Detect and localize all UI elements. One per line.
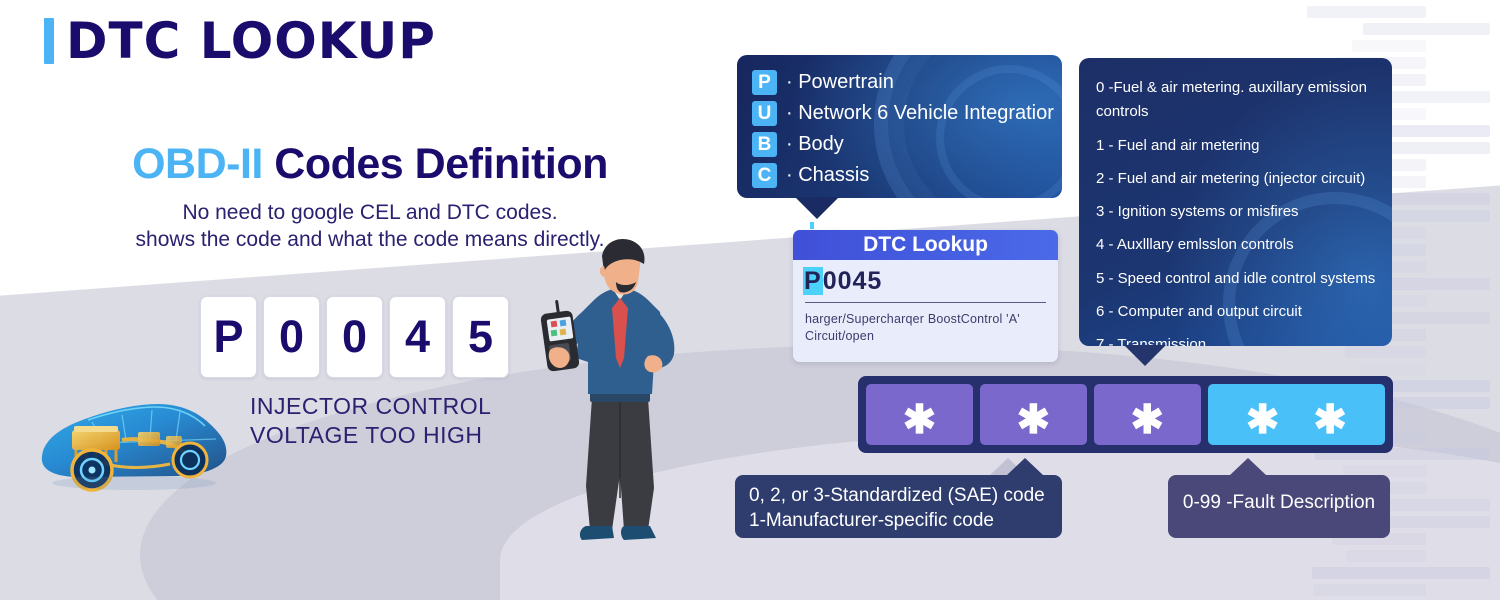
code-position-cell[interactable]: ✱ — [1094, 384, 1201, 445]
logo-accent-bar — [44, 18, 54, 64]
category-label: · Body — [786, 133, 844, 156]
subsystem-list-item: 4 - Auxlllary emlsslon controls — [1096, 233, 1376, 257]
category-letter-badge: P — [752, 70, 777, 95]
category-letter-badge: B — [752, 132, 777, 157]
dtc-code-card: 0 — [263, 296, 320, 378]
callout-fault-description: 0-99 -Fault Description — [1168, 475, 1390, 538]
dtc-code-card: P — [200, 296, 257, 378]
subsystem-list-item: 3 - Ignition systems or misfires — [1096, 200, 1376, 224]
subsystem-list-item: 0 -Fuel & air metering. auxillary emissi… — [1096, 76, 1376, 125]
page-title-accent: OBD-II — [132, 140, 263, 188]
fault-description-line2: VOLTAGE TOO HIGH — [250, 421, 491, 450]
page-title-rest: Codes Definition — [263, 140, 608, 188]
dtc-lookup-card[interactable]: DTC Lookup P0045 harger/Supercharqer Boo… — [793, 230, 1058, 362]
code-position-row: ✱✱✱✱✱ — [858, 376, 1393, 453]
infographic-canvas: DTC LOOKUP OBD-II Codes Definition No ne… — [0, 0, 1500, 600]
asterisk-icon: ✱ — [1246, 408, 1280, 432]
category-label: · Network 6 Vehicle Integratior — [786, 102, 1054, 125]
callout-sae-pointer — [1007, 458, 1043, 475]
subsystem-list-item: 6 - Computer and output circuit — [1096, 300, 1376, 324]
category-row: P· Powertrain — [752, 67, 1062, 98]
dtc-lookup-code-rest: 0045 — [823, 267, 883, 295]
asterisk-icon: ✱ — [1313, 408, 1347, 432]
asterisk-icon: ✱ — [903, 408, 937, 432]
callout-fault-pointer — [1230, 458, 1266, 475]
subsystem-list-item: 2 - Fuel and air metering (injector circ… — [1096, 167, 1376, 191]
code-position-cell[interactable]: ✱ — [980, 384, 1087, 445]
asterisk-icon: ✱ — [1017, 408, 1051, 432]
code-position-cell[interactable]: ✱ — [866, 384, 973, 445]
code-category-panel: P· PowertrainU· Network 6 Vehicle Integr… — [737, 55, 1062, 198]
callout-sae-line1: 0, 2, or 3-Standardized (SAE) code — [749, 483, 1062, 508]
fault-description: INJECTOR CONTROL VOLTAGE TOO HIGH — [250, 392, 491, 451]
car-xray-illustration — [30, 382, 240, 497]
page-subtitle-line1: No need to google CEL and DTC codes. — [0, 200, 740, 227]
dtc-code-card: 0 — [326, 296, 383, 378]
fault-description-line1: INJECTOR CONTROL — [250, 392, 491, 421]
category-label: · Chassis — [786, 164, 869, 187]
dtc-code-card: 4 — [389, 296, 446, 378]
category-row: C· Chassis — [752, 160, 1062, 191]
category-letter-badge: C — [752, 163, 777, 188]
subsystem-list-item: 5 - Speed control and idle control syste… — [1096, 267, 1376, 291]
dtc-code-cards: P0045 — [200, 296, 509, 378]
dtc-lookup-code-prefix: P — [803, 267, 823, 295]
code-position-cell[interactable]: ✱✱ — [1208, 384, 1385, 445]
list-panel-tail — [1124, 345, 1166, 366]
page-title: OBD-II Codes Definition — [0, 140, 740, 189]
callout-sae: 0, 2, or 3-Standardized (SAE) code 1-Man… — [735, 475, 1062, 538]
category-row: B· Body — [752, 129, 1062, 160]
dtc-code-card: 5 — [452, 296, 509, 378]
logo: DTC LOOKUP — [44, 16, 436, 66]
category-panel-tail — [795, 197, 839, 219]
subsystem-list-item: 1 - Fuel and air metering — [1096, 134, 1376, 158]
dtc-lookup-description-line1: harger/Supercharqer BoostControl 'A' — [805, 311, 1046, 328]
category-label: · Powertrain — [786, 71, 894, 94]
technician-illustration — [520, 238, 720, 550]
dtc-lookup-description-line2: Circuit/open — [805, 328, 1046, 345]
callout-sae-line2: 1-Manufacturer-specific code — [749, 508, 1062, 533]
callout-fault-text: 0-99 -Fault Description — [1168, 492, 1390, 514]
category-row: U· Network 6 Vehicle Integratior — [752, 98, 1062, 129]
dtc-lookup-code: P0045 — [793, 260, 1058, 296]
category-letter-badge: U — [752, 101, 777, 126]
asterisk-icon: ✱ — [1131, 408, 1165, 432]
subsystem-list-panel: 0 -Fuel & air metering. auxillary emissi… — [1079, 58, 1392, 346]
dtc-lookup-description: harger/Supercharqer BoostControl 'A' Cir… — [793, 303, 1058, 345]
logo-text: DTC LOOKUP — [66, 16, 436, 66]
dtc-lookup-card-title: DTC Lookup — [793, 230, 1058, 260]
